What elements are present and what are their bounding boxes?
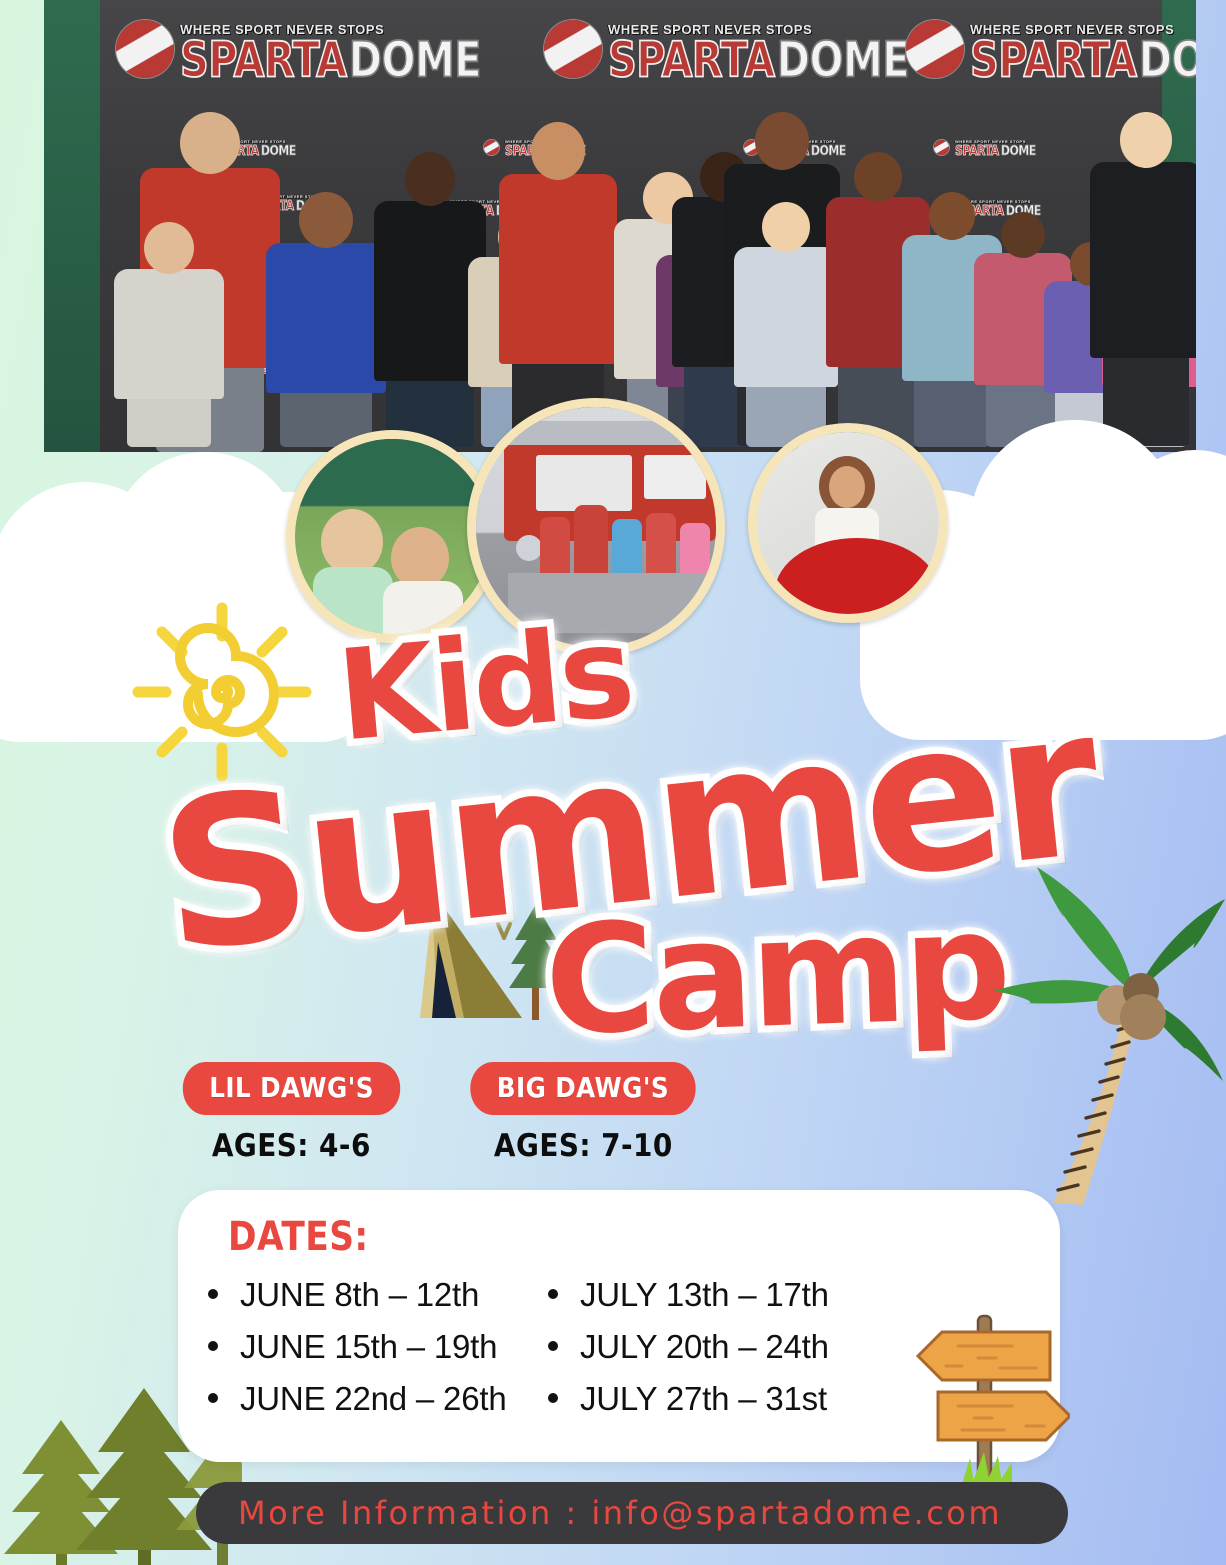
green-curtain-left	[44, 0, 100, 452]
sparta-dome-logo: WHERE SPORT NEVER STOPS SPARTA DOME	[544, 20, 909, 78]
sparta-ball-icon	[544, 20, 602, 78]
photo-inset-red-inflatable	[748, 423, 948, 623]
bullet-dot-icon	[548, 1289, 558, 1299]
sparta-ball-icon	[934, 140, 949, 155]
logo-name-sparta: SPARTA	[608, 36, 775, 85]
badge-ages-lil-dawgs: AGES: 4-6	[212, 1128, 371, 1164]
list-item: JULY 27th – 31st	[548, 1380, 829, 1418]
bullet-dot-icon	[548, 1393, 558, 1403]
dates-heading: DATES:	[228, 1214, 369, 1260]
contact-text[interactable]: More Information : info@spartadome.com	[238, 1494, 1002, 1532]
bullet-dot-icon	[548, 1341, 558, 1351]
list-item: JULY 20th – 24th	[548, 1328, 829, 1366]
sparta-dome-logo: WHERE SPORT NEVER STOPS SPARTA DOME	[906, 20, 1196, 78]
bullet-dot-icon	[208, 1289, 218, 1299]
footer-contact-bar: More Information : info@spartadome.com	[196, 1482, 1068, 1544]
list-item: JUNE 15th – 19th	[208, 1328, 548, 1366]
date-text: JULY 20th – 24th	[580, 1328, 829, 1366]
sparta-ball-icon	[116, 20, 174, 78]
list-item: JUNE 8th – 12th	[208, 1276, 548, 1314]
page-title: Kids Summer Camp	[0, 612, 1060, 1032]
sparta-ball-icon	[484, 140, 499, 155]
date-text: JUNE 8th – 12th	[240, 1276, 479, 1314]
badge-ages-big-dawgs: AGES: 7-10	[494, 1128, 673, 1164]
badge-label-big-dawgs[interactable]: BIG DAWG'S	[470, 1062, 695, 1115]
age-group-lil-dawgs: LIL DAWG'S AGES: 4-6	[168, 1062, 415, 1164]
person-figure	[266, 192, 386, 452]
person-figure	[114, 222, 224, 452]
logo-name-sparta: SPARTA	[970, 36, 1137, 85]
palm-tree-icon	[975, 845, 1226, 1205]
bullet-dot-icon	[208, 1393, 218, 1403]
age-group-badges: LIL DAWG'S AGES: 4-6 BIG DAWG'S AGES: 7-…	[168, 1062, 711, 1164]
main-group-photo: WHERE SPORT NEVER STOPS SPARTA DOME WHER…	[44, 0, 1196, 452]
date-text: JUNE 22nd – 26th	[240, 1380, 506, 1418]
logo-name-dome: DOME	[1139, 36, 1196, 85]
person-figure	[1090, 112, 1196, 452]
badge-label-lil-dawgs[interactable]: LIL DAWG'S	[183, 1062, 400, 1115]
logo-name-dome: DOME	[777, 36, 909, 85]
logo-name-sparta: SPARTA	[955, 144, 999, 157]
sparta-ball-icon	[906, 20, 964, 78]
bullet-dot-icon	[208, 1341, 218, 1351]
logo-name-dome: DOME	[1001, 144, 1036, 157]
wooden-signpost-icon	[900, 1288, 1070, 1488]
date-text: JULY 27th – 31st	[580, 1380, 827, 1418]
dates-column-right: JULY 13th – 17th JULY 20th – 24th JULY 2…	[548, 1276, 829, 1432]
date-text: JUNE 15th – 19th	[240, 1328, 497, 1366]
poster-canvas: WHERE SPORT NEVER STOPS SPARTA DOME WHER…	[0, 0, 1226, 1565]
date-text: JULY 13th – 17th	[580, 1276, 829, 1314]
logo-name-dome: DOME	[349, 36, 481, 85]
list-item: JULY 13th – 17th	[548, 1276, 829, 1314]
title-line-camp: Camp	[542, 879, 1011, 1069]
sparta-dome-logo: WHERE SPORT NEVER STOPS SPARTADOME	[934, 140, 1036, 155]
logo-name-sparta: SPARTA	[180, 36, 347, 85]
person-figure	[734, 202, 838, 452]
age-group-big-dawgs: BIG DAWG'S AGES: 7-10	[455, 1062, 711, 1164]
sparta-dome-logo: WHERE SPORT NEVER STOPS SPARTA DOME	[116, 20, 481, 78]
list-item: JUNE 22nd – 26th	[208, 1380, 548, 1418]
dates-columns: JUNE 8th – 12th JUNE 15th – 19th JUNE 22…	[208, 1276, 829, 1432]
dates-column-left: JUNE 8th – 12th JUNE 15th – 19th JUNE 22…	[208, 1276, 548, 1432]
